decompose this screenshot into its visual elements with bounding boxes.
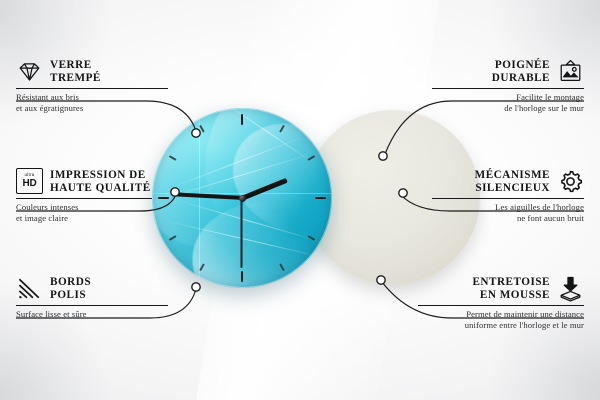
feature-header: ultra HD IMPRESSION DE HAUTE QUALITÉ bbox=[16, 168, 152, 195]
feature-divider bbox=[16, 198, 152, 199]
feature-header: BORDS POLIS bbox=[16, 275, 168, 302]
feature-header: POIGNÉE DURABLE bbox=[432, 58, 584, 85]
feature-title-line1: IMPRESSION DE bbox=[50, 169, 151, 182]
feature-title: BORDS POLIS bbox=[50, 276, 91, 301]
feature-mecanisme-silencieux[interactable]: MÉCANISME SILENCIEUX Les aiguilles de l'… bbox=[432, 168, 584, 223]
polished-edge-icon bbox=[16, 275, 43, 302]
feature-header: MÉCANISME SILENCIEUX bbox=[432, 168, 584, 195]
feature-divider bbox=[418, 305, 584, 306]
feature-title-line2: TREMPÉ bbox=[50, 72, 101, 85]
feature-divider bbox=[432, 88, 584, 89]
feature-title-line1: ENTRETOISE bbox=[472, 276, 550, 289]
connector-node-mecanisme bbox=[399, 189, 407, 197]
gear-icon bbox=[557, 168, 584, 195]
feature-title-line1: MÉCANISME bbox=[475, 169, 550, 182]
feature-title: ENTRETOISE EN MOUSSE bbox=[472, 276, 550, 301]
feature-sub-line2: de l'horloge sur le mur bbox=[432, 103, 584, 113]
feature-sub-line2: uniforme entre l'horloge et le mur bbox=[418, 320, 584, 330]
connector-node-verre-trempe bbox=[192, 129, 200, 137]
ultra-hd-icon: ultra HD bbox=[16, 168, 43, 195]
connector-node-bords-polis bbox=[192, 283, 200, 291]
feature-title: VERRE TREMPÉ bbox=[50, 59, 101, 84]
feature-title-line1: POIGNÉE bbox=[492, 59, 550, 72]
feature-impression-haute-qualite[interactable]: ultra HD IMPRESSION DE HAUTE QUALITÉ Cou… bbox=[16, 168, 152, 223]
feature-title: MÉCANISME SILENCIEUX bbox=[475, 169, 550, 194]
feature-title-line2: HAUTE QUALITÉ bbox=[50, 182, 151, 195]
infographic-canvas: VERRE TREMPÉ Résistant aux bris et aux é… bbox=[0, 0, 600, 400]
feature-sub-line1: Permet de maintenir une distance bbox=[418, 309, 584, 319]
foam-spacer-icon bbox=[557, 275, 584, 302]
ultra-hd-icon-main-text: HD bbox=[22, 179, 36, 189]
feature-title-line2: EN MOUSSE bbox=[472, 289, 550, 302]
feature-sub-line1: Facilite le montage bbox=[432, 92, 584, 102]
diamond-icon bbox=[16, 58, 43, 85]
feature-sub-line1: Résistant aux bris bbox=[16, 92, 168, 102]
feature-header: ENTRETOISE EN MOUSSE bbox=[418, 275, 584, 302]
feature-title: IMPRESSION DE HAUTE QUALITÉ bbox=[50, 169, 151, 194]
feature-sub-line2: et image claire bbox=[16, 213, 152, 223]
feature-title-line1: BORDS bbox=[50, 276, 91, 289]
feature-sub-line1: Couleurs intenses bbox=[16, 202, 152, 212]
feature-divider bbox=[16, 305, 168, 306]
feature-sub-line2: ne font aucun bruit bbox=[432, 213, 584, 223]
hanging-frame-icon bbox=[557, 58, 584, 85]
feature-verre-trempe[interactable]: VERRE TREMPÉ Résistant aux bris et aux é… bbox=[16, 58, 168, 113]
feature-bords-polis[interactable]: BORDS POLIS Surface lisse et sûre bbox=[16, 275, 168, 320]
feature-title-line2: DURABLE bbox=[492, 72, 550, 85]
connector-node-entretoise bbox=[377, 276, 385, 284]
feature-sub-line1: Surface lisse et sûre bbox=[16, 309, 168, 319]
feature-divider bbox=[432, 198, 584, 199]
feature-title-line2: SILENCIEUX bbox=[475, 182, 550, 195]
feature-title: POIGNÉE DURABLE bbox=[492, 59, 550, 84]
connector-node-impression bbox=[171, 188, 179, 196]
connector-node-poignee bbox=[379, 152, 387, 160]
feature-header: VERRE TREMPÉ bbox=[16, 58, 168, 85]
feature-poignee-durable[interactable]: POIGNÉE DURABLE Facilite le montage de l… bbox=[432, 58, 584, 113]
feature-sub-line1: Les aiguilles de l'horloge bbox=[432, 202, 584, 212]
feature-entretoise-en-mousse[interactable]: ENTRETOISE EN MOUSSE Permet de maintenir… bbox=[418, 275, 584, 330]
feature-sub-line2: et aux égratignures bbox=[16, 103, 168, 113]
feature-title-line2: POLIS bbox=[50, 289, 91, 302]
feature-title-line1: VERRE bbox=[50, 59, 101, 72]
feature-divider bbox=[16, 88, 168, 89]
